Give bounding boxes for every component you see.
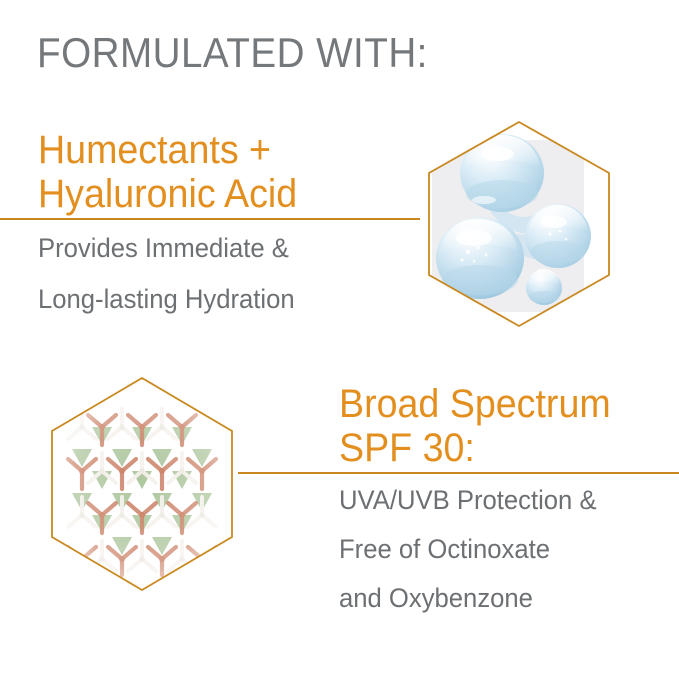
divider-rule-humectants [0, 218, 420, 220]
water-droplets-hexagon-icon [424, 118, 614, 330]
molecule-lattice-hexagon-icon [46, 373, 238, 595]
feature-title-spectrum-line-1: Broad Spectrum [339, 382, 659, 426]
feature-block-humectants: Humectants + Hyaluronic Acid Provides Im… [38, 128, 438, 318]
feature-title-spectrum-line-2: SPF 30: [339, 426, 659, 470]
feature-title-humectants-line-1: Humectants + [38, 128, 414, 172]
feature-block-spectrum: Broad Spectrum SPF 30: UVA/UVB Protectio… [339, 382, 679, 617]
feature-body-spectrum-line-1: UVA/UVB Protection & [339, 482, 662, 519]
feature-body-humectants-line-1: Provides Immediate & [38, 230, 418, 267]
feature-body-spectrum-line-3: and Oxybenzone [339, 580, 662, 617]
feature-body-spectrum-line-2: Free of Octinoxate [339, 531, 662, 568]
feature-body-humectants-line-2: Long-lasting Hydration [38, 281, 418, 318]
page-title: FORMULATED WITH: [37, 30, 428, 76]
feature-title-humectants-line-2: Hyaluronic Acid [38, 172, 414, 216]
divider-rule-spectrum [238, 472, 679, 474]
